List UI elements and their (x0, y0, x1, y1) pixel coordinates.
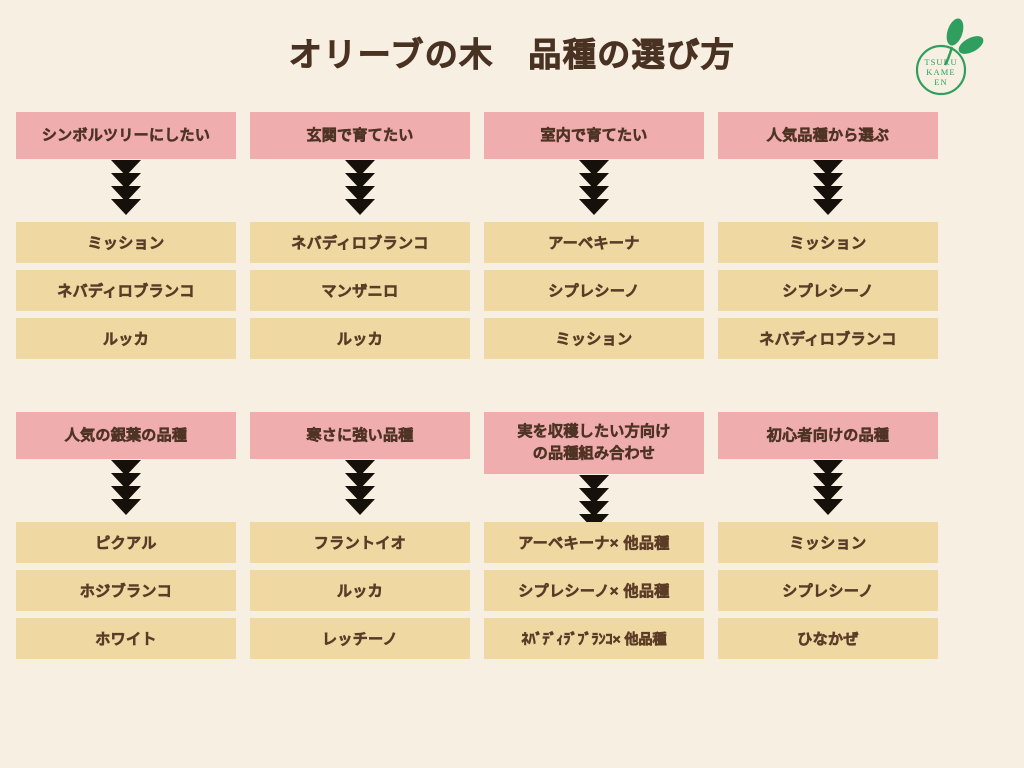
variety-name: アーベキーナ (548, 232, 640, 253)
list-item[interactable]: マンザニロ (250, 270, 470, 311)
variety-name: アーベキーナ× 他品種 (518, 532, 669, 553)
list-item[interactable]: アーベキーナ (484, 222, 704, 263)
variety-name: ホジブランコ (80, 580, 172, 601)
category-header-indoor[interactable]: 室内で育てたい (484, 112, 704, 159)
list-item[interactable]: ミッション (718, 522, 938, 563)
variety-name: ルッカ (103, 328, 149, 349)
olive-leaf-circle-logo-icon: TSURU KAME EN (900, 14, 996, 100)
variety-list-silver-leaf: ピクアルホジブランコホワイト (16, 522, 236, 659)
chevron-down-icon (579, 199, 609, 215)
variety-name: ミッション (789, 232, 866, 253)
category-header-symbol-tree[interactable]: シンボルツリーにしたい (16, 112, 236, 159)
category-header-cold-hardy[interactable]: 寒さに強い品種 (250, 412, 470, 459)
category-header-label: 玄関で育てたい (306, 125, 413, 147)
svg-text:KAME: KAME (926, 67, 955, 77)
list-item[interactable]: ひなかぜ (718, 618, 938, 659)
variety-name: ひなかぜ (797, 628, 859, 649)
arrow-stack-entrance (250, 159, 470, 222)
variety-list-popular: ミッションシプレシーノネバディロブランコ (718, 222, 938, 359)
list-item[interactable]: ネバディロブランコ (250, 222, 470, 263)
category-header-silver-leaf[interactable]: 人気の銀葉の品種 (16, 412, 236, 459)
variety-name: シプレシーノ (548, 280, 640, 301)
page-title: オリーブの木 品種の選び方 (0, 28, 1024, 76)
variety-name: ミッション (789, 532, 866, 553)
variety-name: フラントイオ (314, 532, 406, 553)
list-item[interactable]: シプレシーノ (718, 570, 938, 611)
list-item[interactable]: レッチーノ (250, 618, 470, 659)
variety-name: ミッション (555, 328, 632, 349)
chevron-down-icon (111, 499, 141, 515)
category-column-popular: 人気品種から選ぶミッションシプレシーノネバディロブランコ (718, 112, 938, 359)
category-header-entrance[interactable]: 玄関で育てたい (250, 112, 470, 159)
category-header-beginner[interactable]: 初心者向けの品種 (718, 412, 938, 459)
variety-name: ネバディロブランコ (57, 280, 195, 301)
list-item[interactable]: ﾈﾊﾞﾃﾞｨﾗﾞﾌﾞﾗﾝｺ× 他品種 (484, 618, 704, 659)
category-column-beginner: 初心者向けの品種ミッションシプレシーノひなかぜ (718, 412, 938, 659)
page-header: オリーブの木 品種の選び方 TSURU KAME EN (0, 0, 1024, 100)
chevron-down-icon (111, 199, 141, 215)
category-header-label: 室内で育てたい (540, 125, 647, 147)
arrow-stack-popular (718, 159, 938, 222)
variety-list-indoor: アーベキーナシプレシーノミッション (484, 222, 704, 359)
category-header-label: 人気の銀葉の品種 (65, 425, 187, 447)
variety-name: ネバディロブランコ (291, 232, 429, 253)
category-header-label: 人気品種から選ぶ (767, 125, 889, 147)
category-column-symbol-tree: シンボルツリーにしたいミッションネバディロブランコルッカ (16, 112, 236, 359)
variety-name: レッチーノ (322, 628, 398, 649)
list-item[interactable]: アーベキーナ× 他品種 (484, 522, 704, 563)
category-column-silver-leaf: 人気の銀葉の品種ピクアルホジブランコホワイト (16, 412, 236, 659)
arrow-stack-silver-leaf (16, 459, 236, 522)
variety-list-beginner: ミッションシプレシーノひなかぜ (718, 522, 938, 659)
arrow-stack-symbol-tree (16, 159, 236, 222)
category-column-indoor: 室内で育てたいアーベキーナシプレシーノミッション (484, 112, 704, 359)
variety-name: シプレシーノ (782, 280, 874, 301)
variety-name: ルッカ (337, 328, 383, 349)
chevron-down-icon (345, 199, 375, 215)
chevron-down-icon (345, 499, 375, 515)
list-item[interactable]: シプレシーノ (718, 270, 938, 311)
category-column-entrance: 玄関で育てたいネバディロブランコマンザニロルッカ (250, 112, 470, 359)
list-item[interactable]: ネバディロブランコ (718, 318, 938, 359)
list-item[interactable]: ルッカ (16, 318, 236, 359)
variety-name: ネバディロブランコ (759, 328, 897, 349)
variety-list-symbol-tree: ミッションネバディロブランコルッカ (16, 222, 236, 359)
variety-name: ピクアル (95, 532, 156, 553)
variety-list-cold-hardy: フラントイオルッカレッチーノ (250, 522, 470, 659)
variety-list-fruit-harvest: アーベキーナ× 他品種シプレシーノ× 他品種ﾈﾊﾞﾃﾞｨﾗﾞﾌﾞﾗﾝｺ× 他品種 (484, 522, 704, 659)
category-header-label: 寒さに強い品種 (306, 425, 413, 447)
category-column-fruit-harvest: 実を収穫したい方向け の品種組み合わせアーベキーナ× 他品種シプレシーノ× 他品… (484, 412, 704, 659)
category-header-fruit-harvest[interactable]: 実を収穫したい方向け の品種組み合わせ (484, 412, 704, 474)
category-header-label: 実を収穫したい方向け の品種組み合わせ (517, 421, 670, 465)
svg-text:TSURU: TSURU (924, 57, 957, 67)
list-item[interactable]: ピクアル (16, 522, 236, 563)
variety-name: ミッション (87, 232, 164, 253)
variety-name: マンザニロ (321, 280, 398, 301)
list-item[interactable]: ミッション (16, 222, 236, 263)
category-header-label: 初心者向けの品種 (767, 425, 889, 447)
list-item[interactable]: ルッカ (250, 318, 470, 359)
arrow-stack-cold-hardy (250, 459, 470, 522)
variety-list-entrance: ネバディロブランコマンザニロルッカ (250, 222, 470, 359)
variety-name: シプレシーノ (782, 580, 874, 601)
list-item[interactable]: ネバディロブランコ (16, 270, 236, 311)
list-item[interactable]: ミッション (718, 222, 938, 263)
list-item[interactable]: ホジブランコ (16, 570, 236, 611)
list-item[interactable]: ミッション (484, 318, 704, 359)
category-column-cold-hardy: 寒さに強い品種フラントイオルッカレッチーノ (250, 412, 470, 659)
variety-name: ホワイト (95, 628, 157, 649)
variety-name: シプレシーノ× 他品種 (518, 580, 669, 601)
variety-name: ﾈﾊﾞﾃﾞｨﾗﾞﾌﾞﾗﾝｺ× 他品種 (521, 629, 666, 649)
board-row-1: シンボルツリーにしたいミッションネバディロブランコルッカ玄関で育てたいネバディロ… (16, 112, 1008, 359)
category-header-label: シンボルツリーにしたい (42, 125, 210, 147)
chevron-down-icon (813, 499, 843, 515)
arrow-stack-fruit-harvest (484, 474, 704, 522)
variety-selection-board: シンボルツリーにしたいミッションネバディロブランコルッカ玄関で育てたいネバディロ… (0, 112, 1024, 659)
arrow-stack-indoor (484, 159, 704, 222)
list-item[interactable]: ルッカ (250, 570, 470, 611)
svg-text:EN: EN (934, 77, 948, 87)
arrow-stack-beginner (718, 459, 938, 522)
chevron-down-icon (813, 199, 843, 215)
list-item[interactable]: シプレシーノ× 他品種 (484, 570, 704, 611)
variety-name: ルッカ (337, 580, 383, 601)
category-header-popular[interactable]: 人気品種から選ぶ (718, 112, 938, 159)
list-item[interactable]: ホワイト (16, 618, 236, 659)
brand-logo: TSURU KAME EN (900, 14, 996, 100)
list-item[interactable]: シプレシーノ (484, 270, 704, 311)
list-item[interactable]: フラントイオ (250, 522, 470, 563)
board-row-2: 人気の銀葉の品種ピクアルホジブランコホワイト寒さに強い品種フラントイオルッカレッ… (16, 412, 1008, 659)
